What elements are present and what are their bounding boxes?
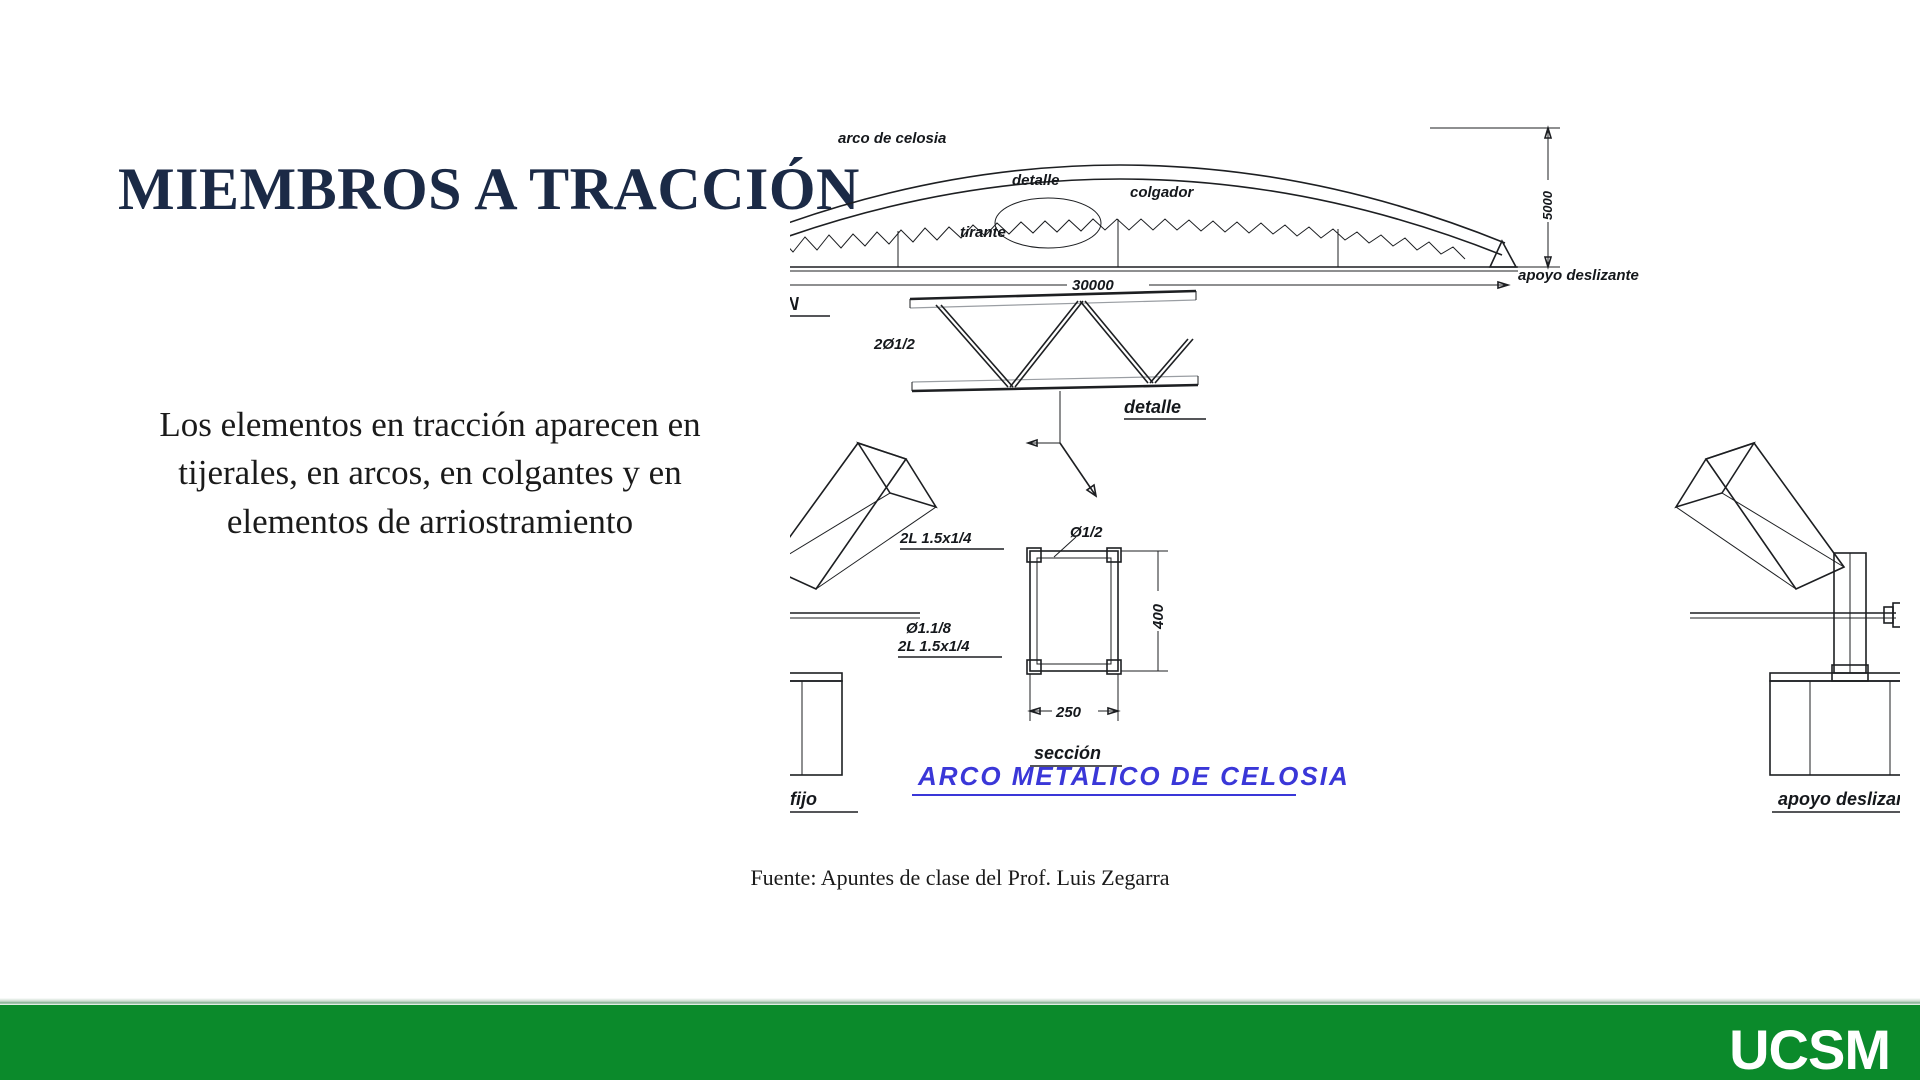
detail-diagonals bbox=[936, 301, 1193, 387]
section-bottom-angles-label: 2L 1.5x1/4 bbox=[897, 638, 970, 655]
sliding-support-view: apoyo deslizante bbox=[1676, 443, 1900, 812]
section-title: sección bbox=[1034, 743, 1101, 763]
page-title: MIEMBROS A TRACCIÓN bbox=[118, 158, 860, 221]
elevation-view: detalle arco de celosia colgador tirante… bbox=[790, 128, 1639, 316]
arch-lattice-web bbox=[790, 219, 1465, 259]
detail-leader bbox=[1028, 391, 1096, 496]
rise-dimension-label: 5000 bbox=[1540, 190, 1555, 220]
arch-right-springing bbox=[1490, 241, 1516, 267]
section-height-dimension: 400 bbox=[1121, 551, 1168, 671]
slide: MIEMBROS A TRACCIÓN Los elementos en tra… bbox=[0, 0, 1920, 1080]
rise-dimension: 5000 bbox=[1430, 128, 1560, 267]
footer-bar: UCSM bbox=[0, 1005, 1920, 1080]
tie-label: tirante bbox=[960, 224, 1006, 241]
fixed-support-pedestal bbox=[790, 665, 842, 775]
arch-outer-chord bbox=[790, 165, 1505, 243]
elevation-title: ELEVACION bbox=[790, 294, 800, 314]
arch-label: arco de celosia bbox=[838, 130, 946, 147]
section-width-dimension: 250 bbox=[1030, 674, 1118, 721]
sliding-support-title: apoyo deslizante bbox=[1778, 789, 1900, 809]
detail-callout-label: detalle bbox=[1012, 172, 1060, 189]
anchor-bolt-label: Ø1.1/8 bbox=[906, 620, 952, 637]
sliding-support-arch-end bbox=[1676, 443, 1844, 589]
detail-upper-chord bbox=[910, 291, 1196, 308]
slide-footer: UCSM bbox=[0, 998, 1920, 1080]
section-inner-box bbox=[1037, 558, 1111, 664]
fixed-support-arch-end bbox=[790, 443, 936, 589]
ucsm-logo: UCSM bbox=[1729, 1017, 1890, 1080]
fixed-support-title: apoyo fijo bbox=[790, 789, 817, 809]
detail-view: 2Ø1/2 detalle bbox=[873, 291, 1206, 496]
detail-callout-ellipse bbox=[995, 198, 1101, 248]
detail-diagonals-label: 2Ø1/2 bbox=[873, 336, 916, 353]
span-dimension-label: 30000 bbox=[1072, 277, 1114, 294]
figure-caption: ARCO METALICO DE CELOSIA bbox=[912, 761, 1350, 795]
source-note: Fuente: Apuntes de clase del Prof. Luis … bbox=[0, 865, 1920, 891]
technical-drawing: detalle arco de celosia colgador tirante… bbox=[790, 95, 1900, 895]
section-height-label: 400 bbox=[1150, 603, 1167, 630]
fixed-support-view: 2C4x5.4 Ø1.1/8 apoyo fijo bbox=[790, 443, 952, 812]
figure-caption-text: ARCO METALICO DE CELOSIA bbox=[917, 761, 1350, 791]
section-lacing-label: Ø1/2 bbox=[1070, 524, 1103, 541]
section-top-angles-label: 2L 1.5x1/4 bbox=[899, 530, 972, 547]
section-width-label: 250 bbox=[1055, 704, 1082, 721]
section-outer-box bbox=[1030, 551, 1118, 671]
section-corner-angles bbox=[1027, 548, 1121, 674]
sliding-support-label: apoyo deslizante bbox=[1518, 267, 1639, 284]
detail-title: detalle bbox=[1124, 397, 1181, 417]
anchor-bolt bbox=[790, 603, 920, 627]
footer-divider bbox=[0, 998, 1920, 1005]
body-paragraph: Los elementos en tracción aparecen en ti… bbox=[150, 401, 710, 546]
section-view: 2L 1.5x1/4 2L 1.5x1/4 Ø1/2 400 bbox=[897, 524, 1168, 766]
sliding-support-pedestal bbox=[1770, 665, 1900, 775]
sliding-support-bolt bbox=[1690, 603, 1900, 627]
hanger-label: colgador bbox=[1130, 184, 1195, 201]
